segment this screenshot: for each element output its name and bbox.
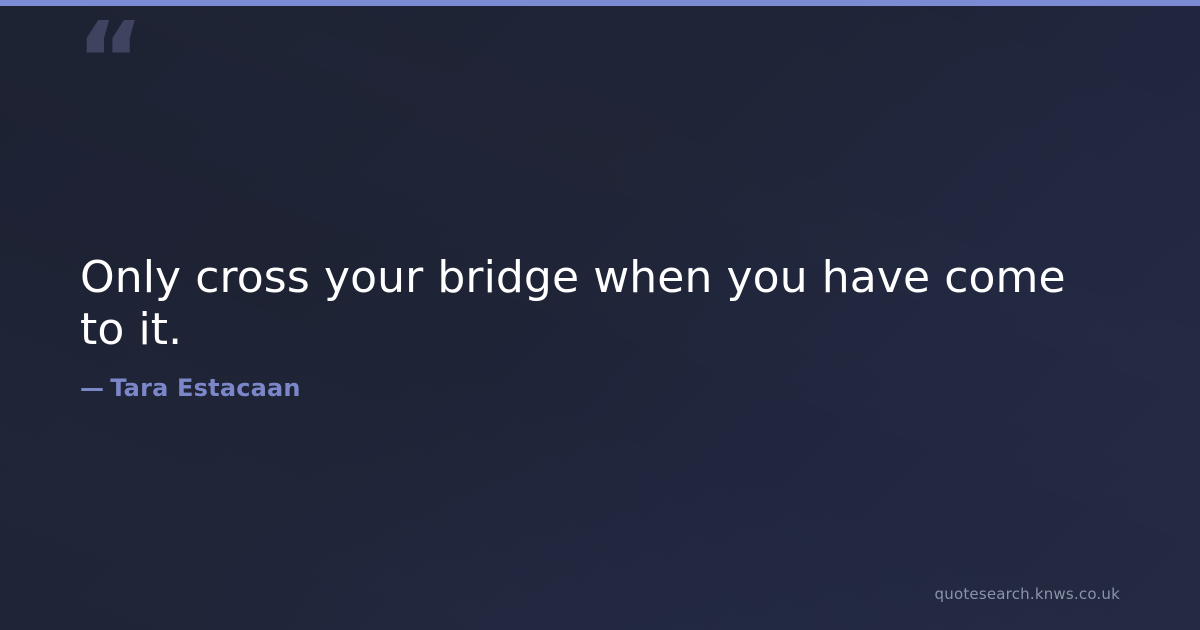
opening-quote-icon: “ bbox=[76, 8, 142, 112]
quote-text: Only cross your bridge when you have com… bbox=[80, 252, 1120, 356]
quote-content: Only cross your bridge when you have com… bbox=[80, 252, 1120, 403]
quote-attribution: —Tara Estacaan bbox=[80, 374, 1120, 403]
site-watermark: quotesearch.knws.co.uk bbox=[935, 585, 1120, 603]
attribution-author: Tara Estacaan bbox=[110, 374, 301, 402]
quote-card: “ Only cross your bridge when you have c… bbox=[0, 0, 1200, 630]
attribution-dash: — bbox=[80, 374, 104, 402]
top-accent-bar bbox=[0, 0, 1200, 6]
